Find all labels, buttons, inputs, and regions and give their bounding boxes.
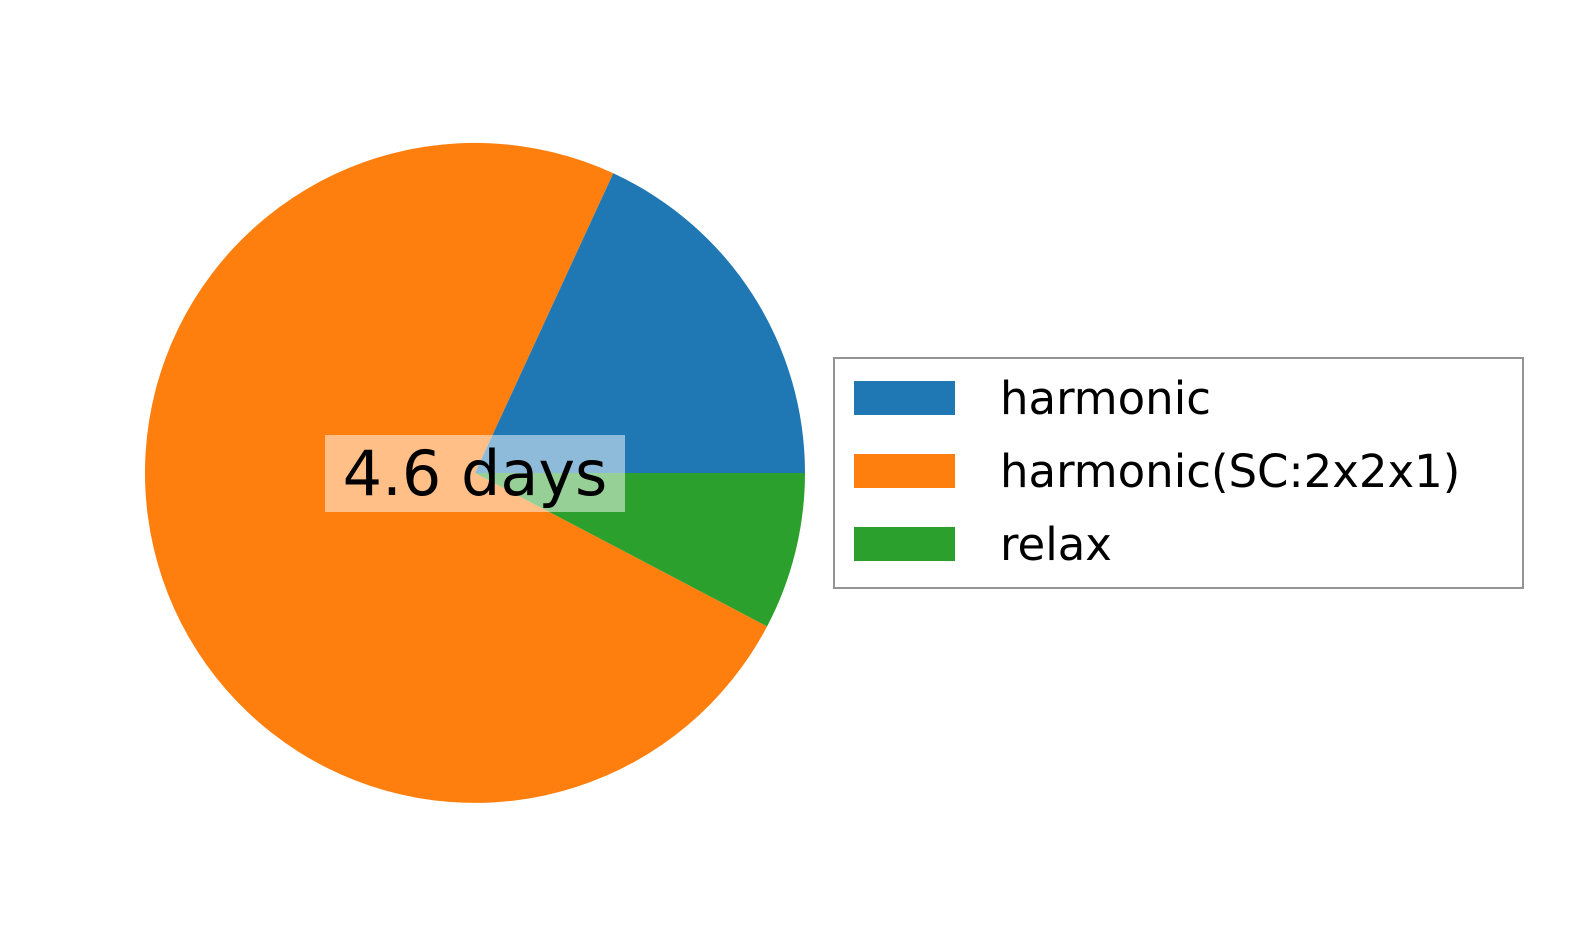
legend-swatch-harmonic-sc-2x2x1-icon	[854, 454, 955, 488]
center-label-text: 4.6 days	[343, 443, 608, 505]
legend: harmonic harmonic(SC:2x2x1) relax	[833, 357, 1524, 589]
legend-swatch-relax-icon	[854, 527, 955, 561]
center-label-box: 4.6 days	[325, 435, 625, 512]
legend-label-harmonic-sc-2x2x1: harmonic(SC:2x2x1)	[1000, 449, 1460, 494]
legend-swatch-harmonic-icon	[854, 381, 955, 415]
legend-item-relax[interactable]: relax	[854, 527, 1112, 561]
legend-label-harmonic: harmonic	[1000, 376, 1211, 421]
legend-list: harmonic harmonic(SC:2x2x1) relax	[835, 359, 1522, 587]
pie-chart-figure: 4.6 days harmonic harmonic(SC:2x2x1) rel…	[0, 0, 1585, 951]
legend-label-relax: relax	[1000, 522, 1112, 567]
legend-item-harmonic-sc-2x2x1[interactable]: harmonic(SC:2x2x1)	[854, 454, 1460, 488]
legend-item-harmonic[interactable]: harmonic	[854, 381, 1211, 415]
